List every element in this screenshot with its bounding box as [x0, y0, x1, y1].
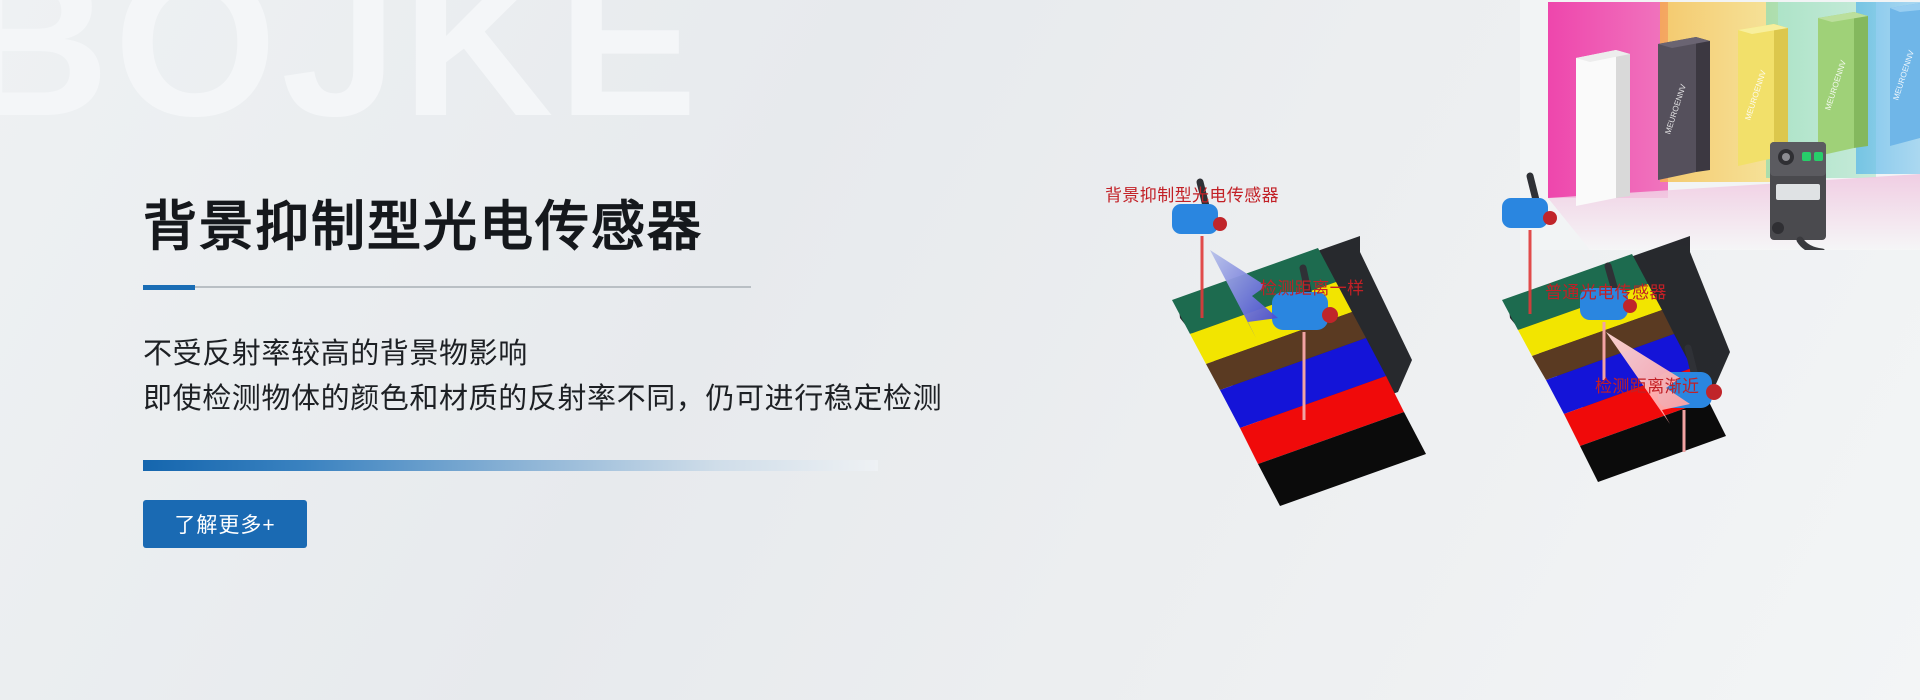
label-bhs-sensor: 背景抑制型光电传感器: [1105, 181, 1279, 206]
divider-accent: [143, 285, 195, 290]
right-scene: [1502, 176, 1730, 482]
left-scene: [1172, 182, 1426, 506]
learn-more-button[interactable]: 了解更多+: [143, 500, 307, 548]
hero-copy: 背景抑制型光电传感器 不受反射率较高的背景物影响 即使检测物体的颜色和材质的反射…: [143, 196, 1163, 548]
label-same-distance: 检测距离一样: [1260, 274, 1364, 299]
sensor-comparison-diagram: [1060, 0, 1920, 700]
subtitle-line-2: 即使检测物体的颜色和材质的反射率不同，仍可进行稳定检测: [143, 377, 1163, 422]
title-divider: [143, 286, 751, 288]
hero-subtitle: 不受反射率较高的背景物影响 即使检测物体的颜色和材质的反射率不同，仍可进行稳定检…: [143, 332, 1163, 422]
accent-gradient-bar: [143, 460, 878, 471]
hero-banner: BOJKE: [0, 0, 1920, 700]
subtitle-line-1: 不受反射率较高的背景物影响: [143, 332, 1163, 377]
brand-watermark: BOJKE: [0, 0, 702, 148]
page-title: 背景抑制型光电传感器: [143, 196, 1163, 260]
label-near-distance: 检测距离渐近: [1595, 372, 1699, 397]
label-standard-sensor: 普通光电传感器: [1545, 278, 1667, 303]
